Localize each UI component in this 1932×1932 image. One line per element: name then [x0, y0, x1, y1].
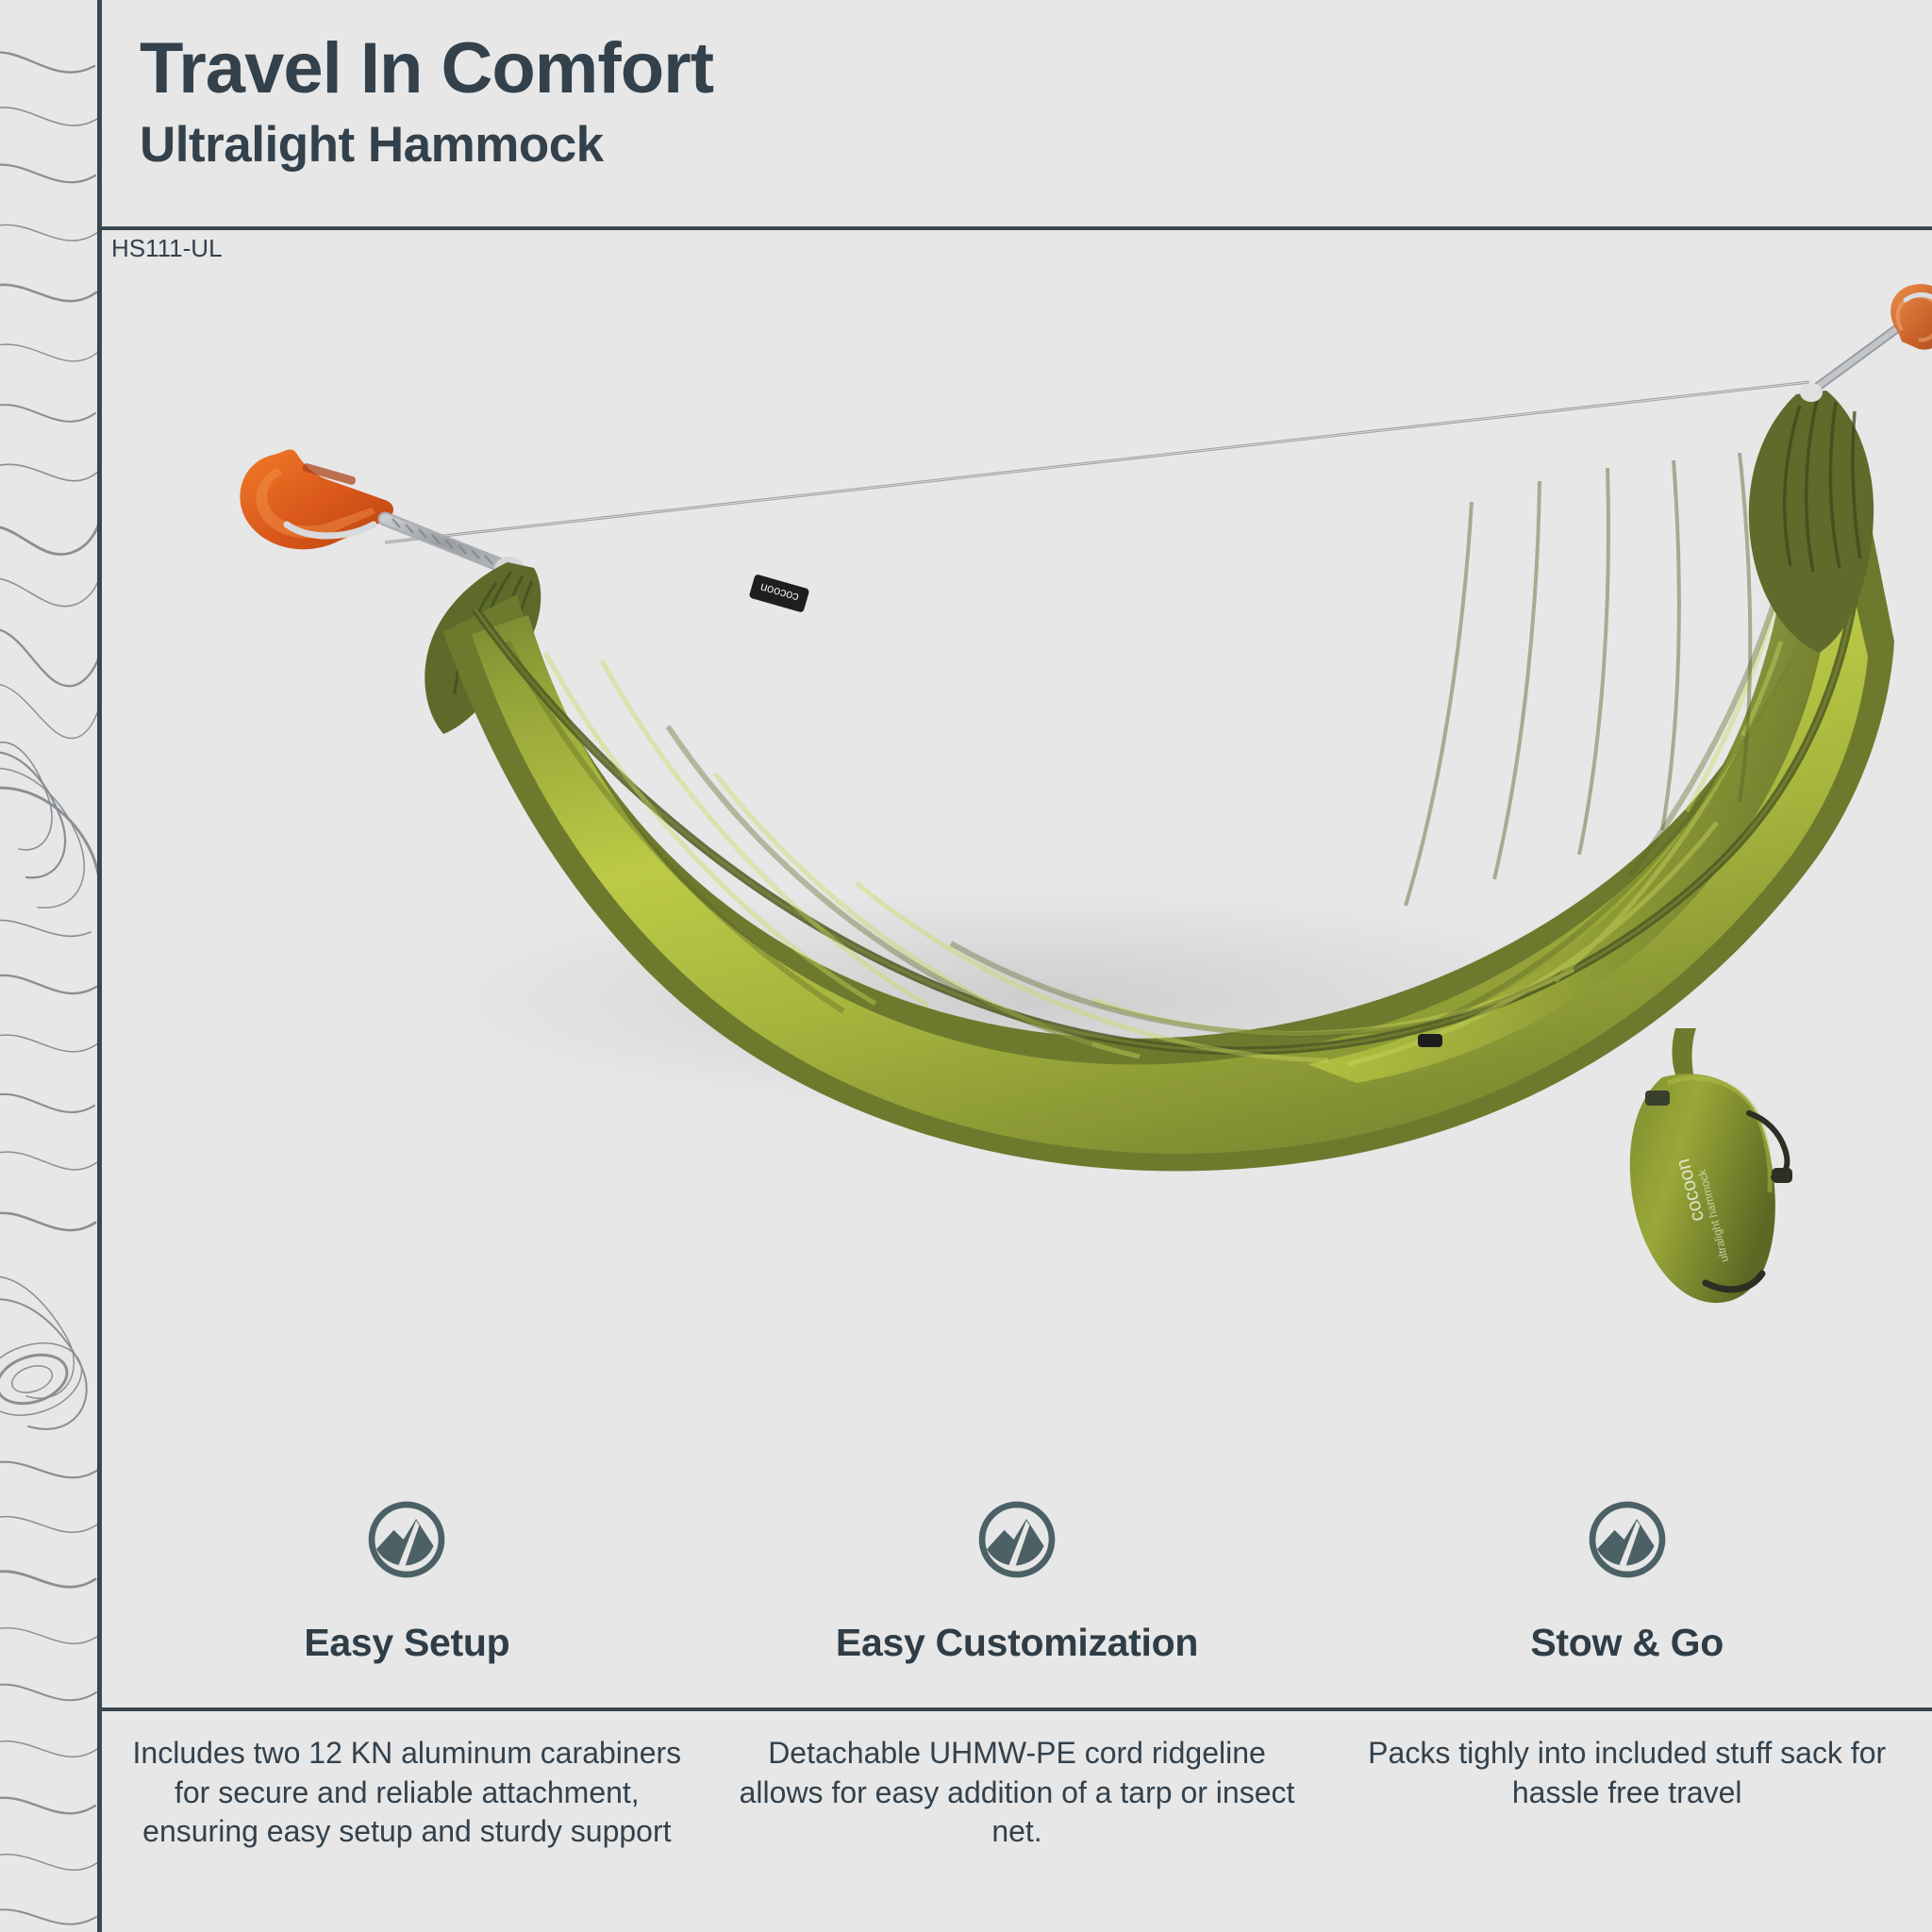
feature-divider — [99, 1707, 1932, 1711]
cord-right — [1800, 326, 1900, 402]
mountain-circle-icon — [977, 1500, 1057, 1579]
topo-contour-lines — [0, 0, 101, 1932]
hammock-brand-label: cocoon — [749, 574, 810, 613]
page-subtitle: Ultralight Hammock — [140, 119, 1743, 172]
hammock-illustration: cocoon — [102, 283, 1932, 1443]
carabiner-right — [1890, 284, 1932, 350]
sku-code: HS111-UL — [111, 234, 223, 263]
carabiner-left — [240, 450, 393, 550]
header-divider — [99, 226, 1932, 230]
feature-description: Includes two 12 KN aluminum carabiners f… — [102, 1734, 712, 1852]
ridgeline-cord — [385, 382, 1809, 542]
feature-column-1: Easy Setup — [102, 1500, 712, 1726]
feature-column-2: Easy Customization — [712, 1500, 1323, 1726]
feature-description: Packs tighly into included stuff sack fo… — [1322, 1734, 1932, 1852]
header: Travel In Comfort Ultralight Hammock — [140, 32, 1743, 171]
feature-column-3: Stow & Go — [1322, 1500, 1932, 1726]
product-image: cocoon — [102, 283, 1932, 1443]
feature-list: Easy Setup Easy Customization Stow & Go — [102, 1500, 1932, 1726]
feature-descriptions: Includes two 12 KN aluminum carabiners f… — [102, 1734, 1932, 1852]
topographic-decoration — [0, 0, 101, 1932]
feature-title: Easy Setup — [304, 1621, 509, 1665]
hammock-clip — [1418, 1034, 1442, 1047]
stuff-sack: cocoon ultralight hammock — [1630, 1028, 1792, 1303]
mountain-circle-icon — [367, 1500, 446, 1579]
feature-description: Detachable UHMW-PE cord ridgeline allows… — [712, 1734, 1323, 1852]
feature-title: Stow & Go — [1530, 1621, 1724, 1665]
page-title: Travel In Comfort — [140, 32, 1743, 106]
feature-title: Easy Customization — [836, 1621, 1198, 1665]
mountain-circle-icon — [1588, 1500, 1667, 1579]
